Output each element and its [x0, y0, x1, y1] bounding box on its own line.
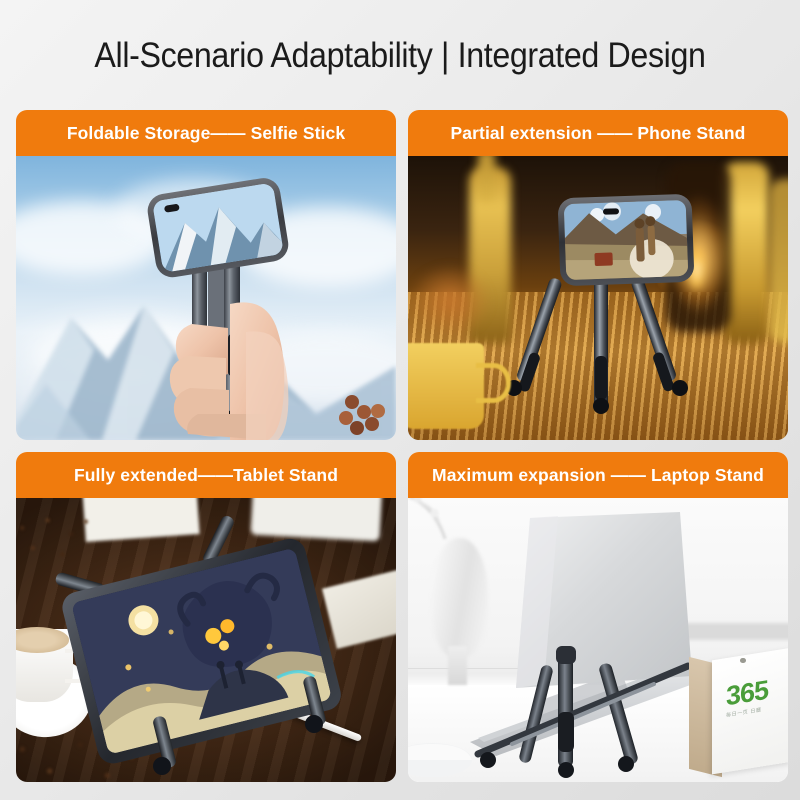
feature-panel-foldable-storage[interactable]: Foldable Storage—— Selfie Stick: [16, 110, 396, 440]
tablet-device: [59, 536, 344, 767]
phone-screen-photo: [564, 200, 689, 282]
feature-panel-fully-extended[interactable]: Fully extended——Tablet Stand: [16, 452, 396, 782]
beaded-bracelet: [339, 395, 385, 435]
panel-header-maximum-expansion: Maximum expansion —— Laptop Stand: [408, 452, 788, 498]
tablet-on-stand-illustration: [16, 498, 396, 782]
smartphone-device: [558, 194, 695, 287]
panel-photo-partial-extension: [408, 156, 788, 440]
panel-header-label: Fully extended——Tablet Stand: [74, 465, 338, 486]
tripod-legs: [506, 268, 688, 414]
desk-calendar: 365 每日一页 日曆: [689, 654, 788, 773]
product-and-hand-illustration: [16, 156, 396, 440]
panel-photo-maximum-expansion: 365 每日一页 日曆: [408, 498, 788, 782]
panel-photo-fully-extended: [16, 498, 396, 782]
hand-holding-product: [16, 156, 396, 440]
panel-header-label: Partial extension —— Phone Stand: [451, 123, 746, 144]
panel-photo-foldable-storage: [16, 156, 396, 440]
tablet-screen-artwork: [71, 548, 332, 755]
calendar-hole-punch: [740, 658, 745, 663]
feature-panel-grid: Foldable Storage—— Selfie Stick: [16, 110, 788, 786]
laptop-lid: [516, 512, 692, 688]
feature-panel-partial-extension[interactable]: Partial extension —— Phone Stand: [408, 110, 788, 440]
dynamic-island-icon: [603, 208, 619, 215]
panel-header-partial-extension: Partial extension —— Phone Stand: [408, 110, 788, 156]
computer-mouse: [408, 743, 472, 777]
smartphone-device: [145, 176, 290, 280]
panel-header-foldable-storage: Foldable Storage—— Selfie Stick: [16, 110, 396, 156]
panel-header-label: Maximum expansion —— Laptop Stand: [432, 465, 764, 486]
coffee-cup: [408, 343, 484, 428]
feature-panel-maximum-expansion[interactable]: Maximum expansion —— Laptop Stand: [408, 452, 788, 782]
page-title: All-Scenario Adaptability | Integrated D…: [32, 36, 768, 76]
panel-header-label: Foldable Storage—— Selfie Stick: [67, 123, 345, 144]
coffee-cup-handle: [476, 363, 510, 403]
panel-header-fully-extended: Fully extended——Tablet Stand: [16, 452, 396, 498]
